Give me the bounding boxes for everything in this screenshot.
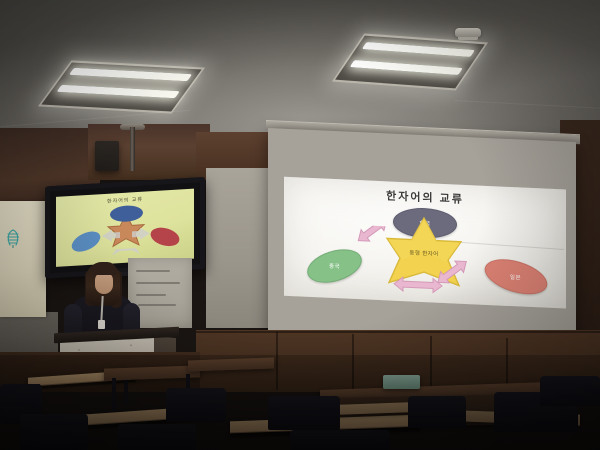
- slide-node-right-label: 일본: [510, 273, 521, 282]
- slide-node-left-label: 중국: [329, 262, 340, 271]
- lecture-hall-photo: 한자어의 교류: [0, 0, 600, 450]
- presenter-face: [95, 272, 113, 294]
- presenter-hair-fringe: [92, 262, 117, 275]
- wall-banner: [0, 201, 46, 317]
- chair: [20, 414, 88, 450]
- presenter-badge: [98, 320, 105, 329]
- projector-mount-pole: [130, 127, 135, 171]
- whiteboard-writing: [136, 282, 180, 284]
- whiteboard-writing: [136, 294, 166, 296]
- ceiling-sensor-icon: [455, 28, 481, 37]
- chair: [118, 424, 196, 450]
- whiteboard-writing: [138, 304, 176, 306]
- whiteboard-writing: [136, 270, 170, 272]
- chair: [268, 396, 340, 430]
- chair: [166, 388, 226, 422]
- chair: [290, 430, 390, 450]
- chair: [540, 376, 600, 406]
- banner-logo-icon: [4, 227, 22, 249]
- projector-screen[interactable]: 한자어의 교류 한국 동형 한자어: [268, 128, 576, 347]
- projected-slide: 한자어의 교류 한국 동형 한자어: [284, 177, 566, 309]
- teal-box-on-table: [383, 375, 420, 389]
- wall-panel-center: [206, 168, 274, 328]
- chair: [408, 396, 466, 428]
- wall-panel-left-low: [0, 312, 58, 352]
- ceiling-speaker: [95, 141, 119, 171]
- monitor-screen: 한자어의 교류: [56, 189, 194, 267]
- monitor-arrows-icon: [68, 215, 184, 262]
